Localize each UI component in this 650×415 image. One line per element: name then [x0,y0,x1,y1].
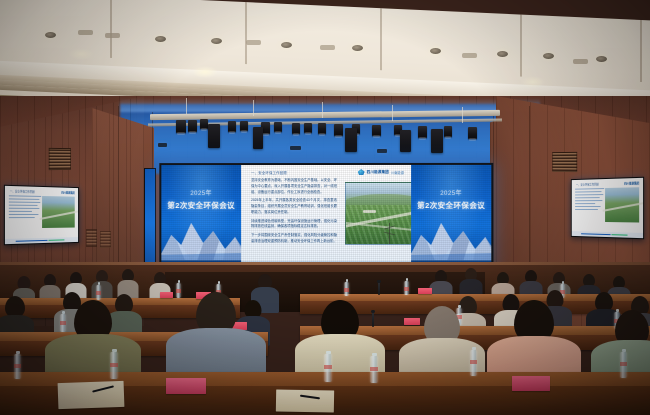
center-slide-paragraph-3: 持续推进绿色低碳转型，完善环保设施运行管理，强化污染物排放在线监测，确保各项指标… [251,219,337,231]
left-wall-access-panel-2 [100,231,111,248]
led-panel-right-title-slide[interactable]: 2025年 第2次安全环保会议 安全环保 集团公司 [411,165,491,269]
left-wall-vent-grille [49,148,71,170]
audience-member-gray-shirt [172,292,260,378]
water-bottle [14,354,21,379]
company-logo-text: 四川能源集团 [367,169,389,174]
led-panel-center-content-slide[interactable]: 一、安全环保工作回顾 四川能源集团 川南能源 坚持安全教育为基础，不断巩固安全生… [241,165,411,269]
right-tv-footer [572,231,643,238]
left-wall-tv[interactable]: 一、安全环保工作回顾 四川能源集团 [4,185,79,246]
water-bottle [324,354,332,382]
center-slide-eyebrow: 一、安全环保工作回顾 [251,170,287,175]
right-wall-vent-grille [552,152,577,172]
led-panel-left-title-slide[interactable]: 2025年 第2次安全环保会议 安全环保 集团公司 [161,165,241,269]
audience-member-olive-shirt [50,300,136,380]
left-tv-eyebrow: 一、安全环保工作回顾 [10,189,35,194]
center-slide-aerial-photo [345,182,411,245]
notepad [276,389,334,412]
water-bottle [470,350,477,376]
center-slide-paragraph-2: 2025年上半年，共开展各类安全检查43个月次，排查整改隐患条目，组织开展全员安… [251,198,337,215]
name-card [166,378,206,394]
right-slide-year: 2025年 [411,188,491,197]
left-tv-photo [42,196,74,228]
left-slide-year: 2025年 [161,188,241,197]
left-blue-banner-screen [144,168,156,268]
transmission-tower-icon [389,223,390,244]
name-card [418,288,432,294]
main-led-video-wall[interactable]: 2025年 第2次安全环保会议 安全环保 集团公司 一、安全环保工作回顾 四川能 [159,163,493,271]
stage-edge-trim [0,262,650,265]
center-slide-paragraph-1: 坚持安全教育为基础，不断巩固安全生产基础。以安全、环保为中心要点，深入开展各项安… [251,178,337,195]
conference-room-photo: 2025年 第2次安全环保会议 安全环保 集团公司 一、安全环保工作回顾 四川能 [0,0,650,415]
right-tv-text-block [575,188,604,212]
company-logo-mark-icon [358,169,365,175]
mountain-graphic-right-icon [411,209,491,261]
center-slide-paragraph-4: 下一步将围绕安全生产责任制落实，强化风险分级管控和隐患排查治理双重预防机制，推动… [251,233,337,245]
water-bottle [620,352,627,378]
name-card [512,376,550,391]
right-tv-photo [605,187,639,222]
left-tv-text-block [9,195,41,220]
company-logo-subtext: 川南能源 [391,169,404,174]
water-bottle [370,356,378,383]
water-bottle [110,352,118,379]
right-wall-tv[interactable]: 一、安全环保工作回顾 四川能源集团 [571,177,644,240]
table-microphone [378,282,380,295]
right-tv-logo: 四川能源集团 [624,181,639,186]
left-tv-logo: 四川能源集团 [61,190,74,194]
center-slide-body-text: 坚持安全教育为基础，不断巩固安全生产基础。以安全、环保为中心要点，深入开展各项安… [251,178,337,248]
mountain-graphic-left-icon [161,209,241,261]
left-tv-footer [5,237,78,244]
right-tv-eyebrow: 一、安全环保工作回顾 [576,182,599,187]
notepad [58,381,125,409]
left-wall-access-panel [86,229,97,247]
center-slide-company-logo: 四川能源集团 川南能源 [358,169,404,175]
audience-member-cream-shirt [300,300,380,380]
